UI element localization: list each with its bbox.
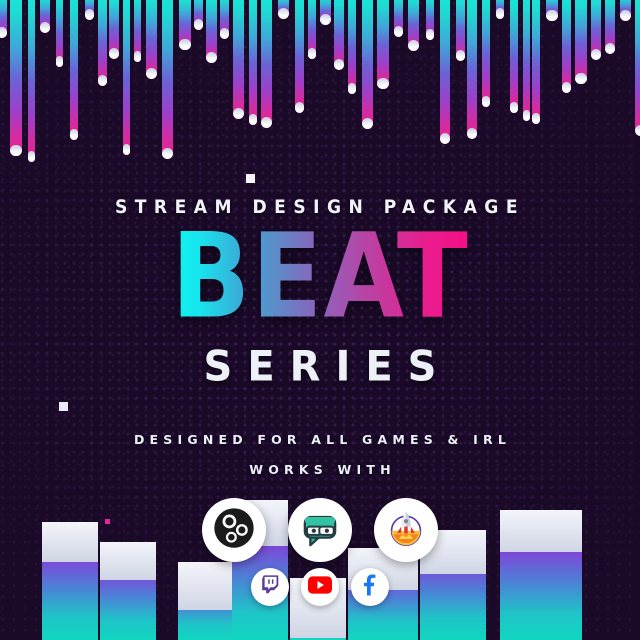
drip-bar bbox=[249, 0, 257, 125]
social-badge-facebook[interactable] bbox=[351, 568, 389, 606]
drip-bar bbox=[635, 0, 640, 136]
subtitle-text: SERIES bbox=[189, 343, 452, 391]
facebook-icon bbox=[359, 574, 381, 601]
drip-bar bbox=[179, 0, 191, 50]
youtube-icon bbox=[308, 573, 332, 602]
drip-bar bbox=[620, 0, 631, 21]
drip-bar bbox=[123, 0, 130, 155]
drip-bar bbox=[456, 0, 465, 61]
drip-bar bbox=[334, 0, 344, 70]
accent-dot-white-top bbox=[246, 174, 255, 183]
tagline-text: DESIGNED FOR ALL GAMES & IRL bbox=[129, 432, 511, 447]
social-badge-youtube[interactable] bbox=[301, 568, 339, 606]
drip-bar bbox=[362, 0, 373, 129]
drip-bar bbox=[591, 0, 601, 60]
drip-bar bbox=[546, 0, 558, 21]
title-block: BEAT bbox=[171, 224, 469, 328]
drip-bar bbox=[562, 0, 571, 93]
drip-bar bbox=[10, 0, 22, 156]
drip-bar bbox=[394, 0, 403, 37]
drip-bar bbox=[206, 0, 217, 63]
drip-bar bbox=[408, 0, 419, 51]
drip-bar bbox=[98, 0, 107, 86]
drip-bar bbox=[496, 0, 504, 19]
drip-bar bbox=[510, 0, 518, 113]
drip-bar bbox=[233, 0, 244, 119]
drip-bar bbox=[467, 0, 477, 139]
obs-studio-icon bbox=[213, 507, 255, 554]
page-title: BEAT bbox=[171, 218, 469, 334]
drip-bar bbox=[426, 0, 434, 40]
drip-bar bbox=[532, 0, 540, 124]
works-with-label: WORKS WITH bbox=[244, 462, 396, 477]
drip-bar bbox=[0, 0, 7, 38]
app-badge-row bbox=[0, 498, 640, 562]
drip-bar bbox=[56, 0, 63, 67]
lightstream-rocket-icon bbox=[384, 506, 428, 555]
streamlabs-icon bbox=[298, 506, 342, 555]
drip-bar bbox=[278, 0, 289, 19]
drip-bar bbox=[377, 0, 389, 89]
app-badge-obs-studio[interactable] bbox=[202, 498, 266, 562]
drip-decoration bbox=[0, 0, 640, 160]
drip-bar bbox=[523, 0, 530, 121]
app-badge-streamlabs[interactable] bbox=[288, 498, 352, 562]
drip-bar bbox=[28, 0, 35, 162]
drip-bar bbox=[605, 0, 615, 54]
drip-bar bbox=[194, 0, 203, 30]
drip-bar bbox=[134, 0, 141, 62]
drip-bar bbox=[348, 0, 356, 94]
drip-bar bbox=[70, 0, 78, 140]
app-badge-lightstream[interactable] bbox=[374, 498, 438, 562]
drip-bar bbox=[146, 0, 157, 79]
drip-bar bbox=[575, 0, 587, 84]
drip-bar bbox=[109, 0, 119, 59]
drip-bar bbox=[295, 0, 304, 113]
social-badge-twitch[interactable] bbox=[251, 568, 289, 606]
drip-bar bbox=[261, 0, 272, 128]
drip-bar bbox=[440, 0, 450, 144]
drip-bar bbox=[40, 0, 50, 33]
twitch-icon bbox=[260, 574, 281, 600]
drip-bar bbox=[308, 0, 316, 59]
drip-bar bbox=[220, 0, 229, 39]
social-badge-row bbox=[0, 568, 640, 606]
drip-bar bbox=[85, 0, 94, 20]
drip-bar bbox=[162, 0, 173, 159]
kicker-text: STREAM DESIGN PACKAGE bbox=[115, 196, 525, 218]
drip-bar bbox=[320, 0, 331, 25]
drip-bar bbox=[482, 0, 490, 107]
poster-canvas: STREAM DESIGN PACKAGE BEAT SERIES DESIGN… bbox=[0, 0, 640, 640]
accent-dot-white-left bbox=[59, 402, 68, 411]
